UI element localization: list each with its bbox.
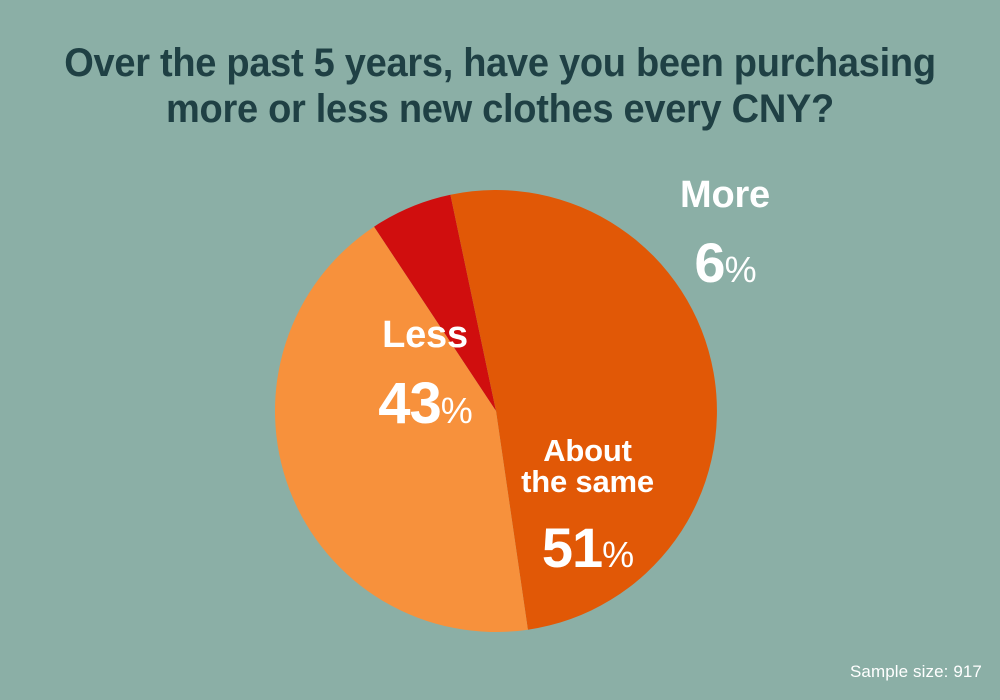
slice-label-more-value: 6% bbox=[625, 233, 825, 292]
slice-label-less-percent: % bbox=[441, 390, 472, 431]
slice-label-about-the-same-value: 51% bbox=[480, 518, 695, 577]
slice-label-more-number: 6 bbox=[694, 231, 724, 294]
slice-label-more-name: More bbox=[625, 175, 825, 215]
slice-label-about-the-same: About the same 51% bbox=[480, 418, 695, 594]
slice-label-less-name: Less bbox=[320, 315, 530, 355]
chart-page: Over the past 5 years, have you been pur… bbox=[0, 0, 1000, 700]
sample-size-note: Sample size: 917 bbox=[850, 662, 982, 682]
slice-label-about-the-same-percent: % bbox=[602, 534, 633, 575]
slice-label-less-number: 43 bbox=[378, 371, 441, 436]
slice-label-about-the-same-name: About the same bbox=[480, 435, 695, 497]
slice-label-more: More 6% bbox=[625, 158, 825, 309]
slice-label-about-the-same-number: 51 bbox=[542, 516, 602, 579]
slice-label-more-percent: % bbox=[725, 249, 756, 290]
